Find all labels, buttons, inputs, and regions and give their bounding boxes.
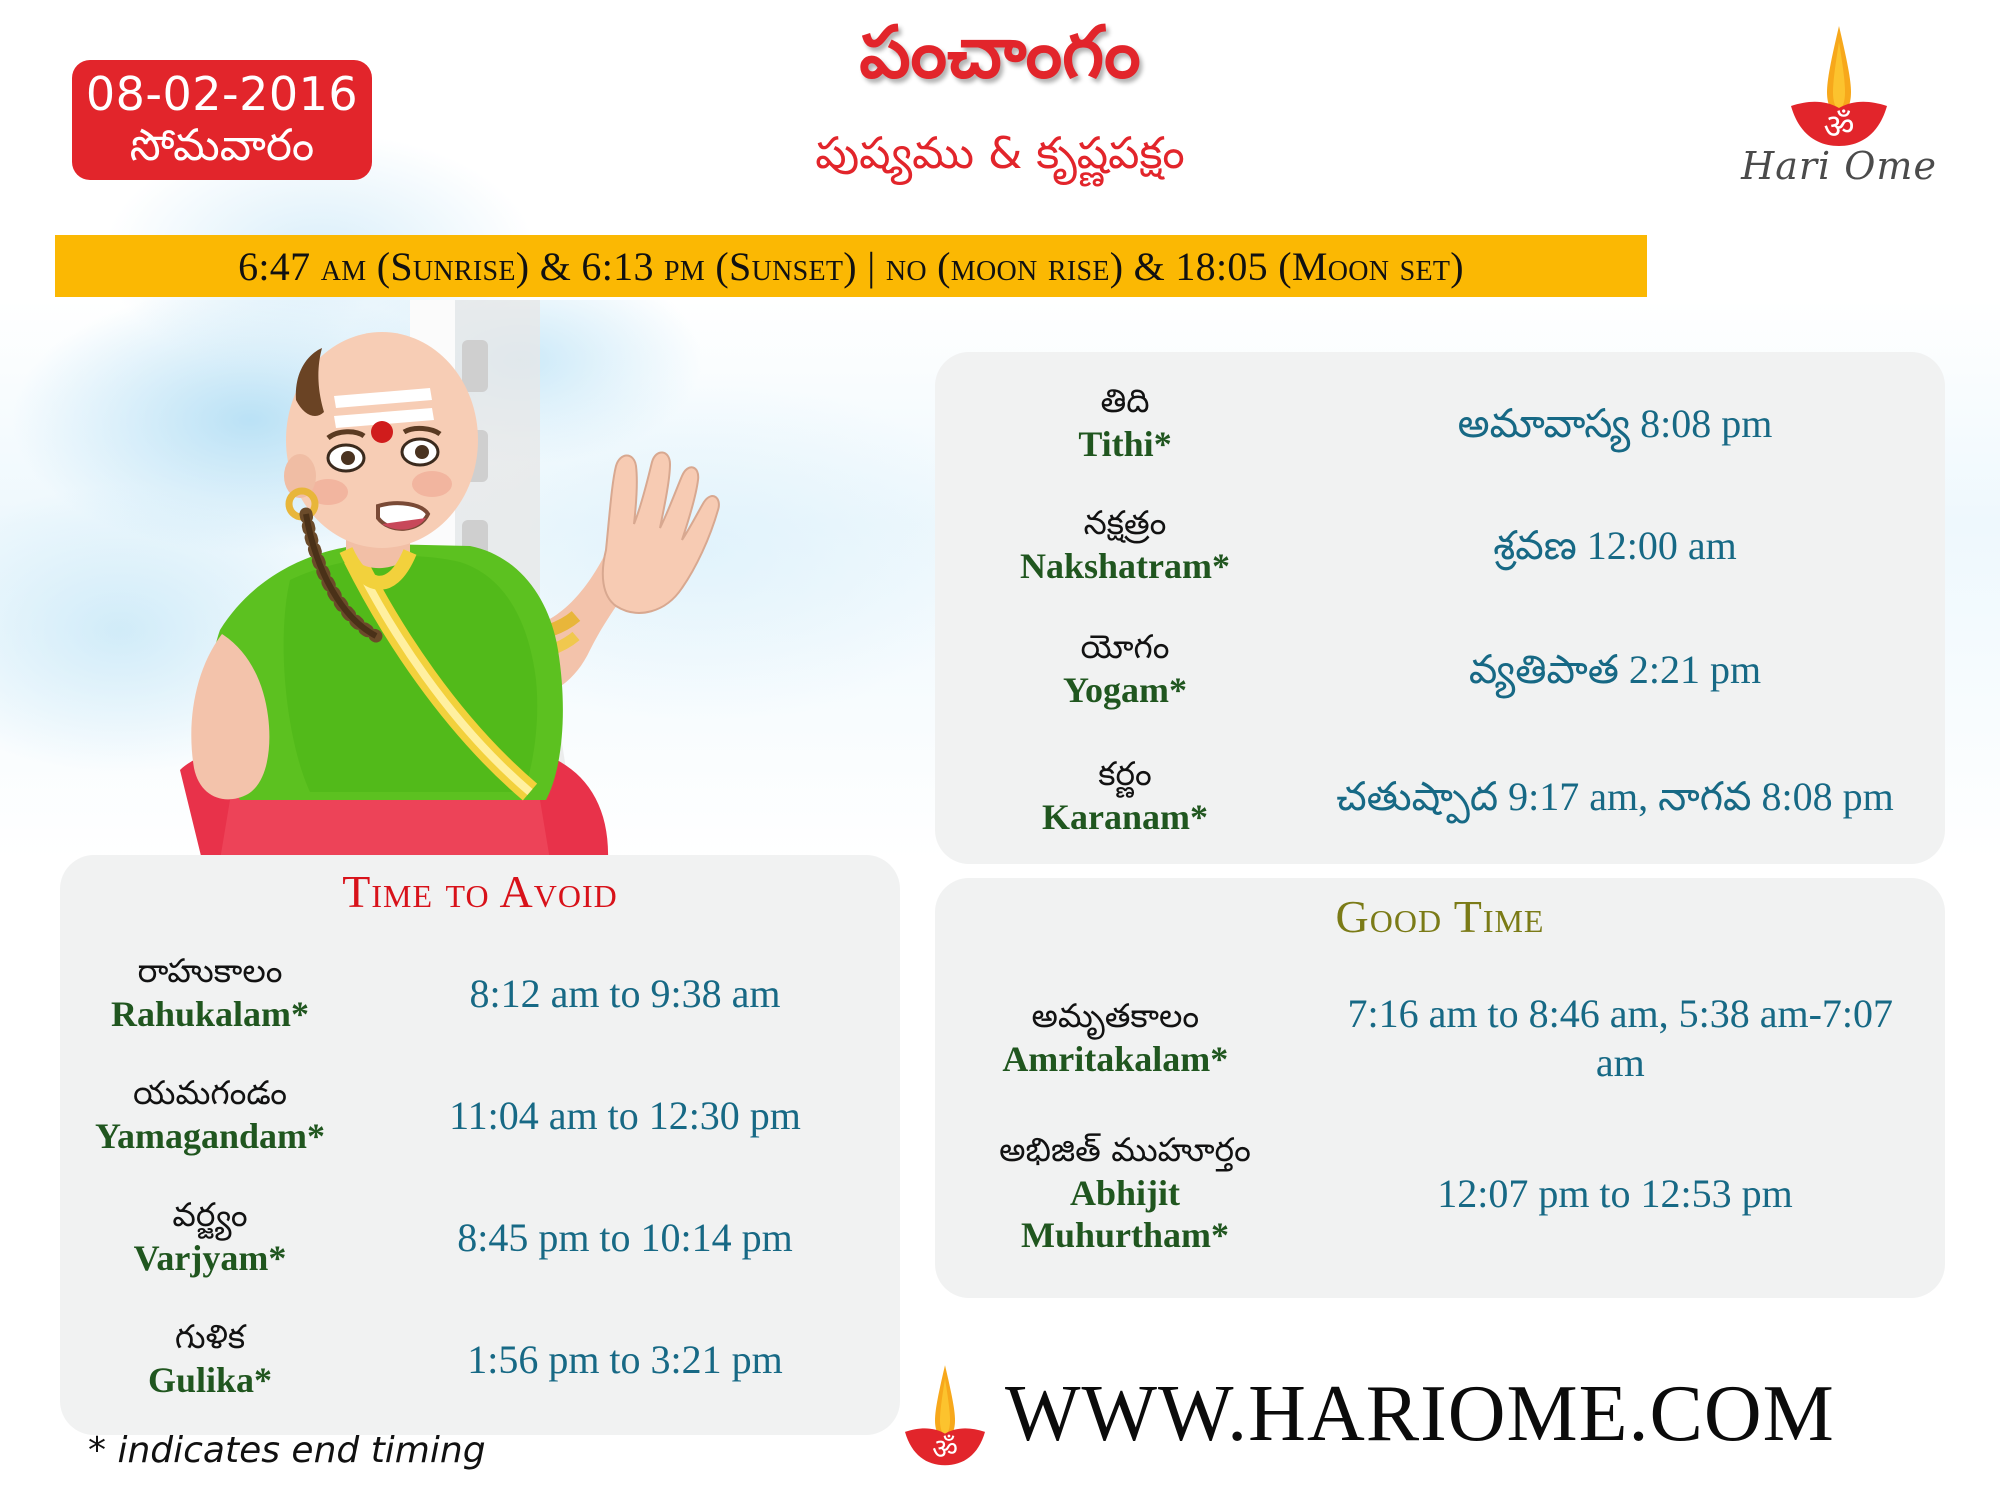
footnote: * indicates end timing bbox=[88, 1430, 486, 1471]
table-row: నక్షత్రం Nakshatram* శ్రవణ 12:00 am bbox=[935, 486, 1945, 606]
row-label-en: Abhijit Muhurtham* bbox=[975, 1172, 1275, 1257]
table-row: యోగం Yogam* వ్యతిపాత 2:21 pm bbox=[935, 610, 1945, 730]
row-label: యమగండం Yamagandam* bbox=[60, 1074, 360, 1157]
row-value: 7:16 am to 8:46 am, 5:38 am-7:07 am bbox=[1296, 990, 1945, 1088]
row-label-en: Amritakalam* bbox=[935, 1038, 1296, 1080]
row-label-en: Karanam* bbox=[935, 796, 1315, 838]
row-label-en: Tithi* bbox=[935, 423, 1315, 465]
row-label: అభిజిత్ ముహూర్తం Abhijit Muhurtham* bbox=[935, 1131, 1315, 1257]
avoid-heading: Time to Avoid bbox=[60, 865, 900, 918]
row-label-en: Nakshatram* bbox=[935, 545, 1315, 587]
row-label-te: గుళిక bbox=[60, 1318, 360, 1357]
diya-lamp-icon: ॐ bbox=[895, 1355, 995, 1473]
brand-name: Hari Ome bbox=[1741, 144, 1937, 188]
row-label-te: తిది bbox=[935, 382, 1315, 421]
row-label-te: వర్జ్యం bbox=[60, 1196, 360, 1235]
row-value: చతుష్పాద 9:17 am, నాగవ 8:08 pm bbox=[1315, 773, 1915, 822]
row-value: అమావాస్య 8:08 pm bbox=[1315, 400, 1915, 449]
table-row: కర్ణం Karanam* చతుష్పాద 9:17 am, నాగవ 8:… bbox=[935, 732, 1945, 862]
diya-lamp-icon: ॐ bbox=[1779, 22, 1899, 147]
row-value: 8:45 pm to 10:14 pm bbox=[360, 1214, 890, 1263]
row-value: 11:04 am to 12:30 pm bbox=[360, 1092, 890, 1141]
row-label: రాహుకాలం Rahukalam* bbox=[60, 952, 360, 1035]
row-label-en: Varjyam* bbox=[60, 1237, 360, 1279]
row-label-en: Yamagandam* bbox=[60, 1115, 360, 1157]
row-label-te: యమగండం bbox=[60, 1074, 360, 1113]
page-subtitle: పుష్యము & కృష్ణపక్షం bbox=[560, 128, 1440, 181]
row-label: వర్జ్యం Varjyam* bbox=[60, 1196, 360, 1279]
table-row: తిది Tithi* అమావాస్య 8:08 pm bbox=[935, 364, 1945, 484]
table-row: యమగండం Yamagandam* 11:04 am to 12:30 pm bbox=[60, 1055, 900, 1177]
row-label-te: అమృతకాలం bbox=[935, 997, 1296, 1036]
table-row: గుళిక Gulika* 1:56 pm to 3:21 pm bbox=[60, 1299, 900, 1421]
row-label-en: Rahukalam* bbox=[60, 993, 360, 1035]
row-value: 8:12 am to 9:38 am bbox=[360, 970, 890, 1019]
page-title: పంచాంగం bbox=[560, 12, 1440, 93]
table-row: రాహుకాలం Rahukalam* 8:12 am to 9:38 am bbox=[60, 933, 900, 1055]
weekday-text: సోమవారం bbox=[130, 122, 315, 170]
table-row: వర్జ్యం Varjyam* 8:45 pm to 10:14 pm bbox=[60, 1177, 900, 1299]
row-value: 1:56 pm to 3:21 pm bbox=[360, 1336, 890, 1385]
table-row: అమృతకాలం Amritakalam* 7:16 am to 8:46 am… bbox=[935, 964, 1945, 1114]
row-label: తిది Tithi* bbox=[935, 382, 1315, 465]
website-url: WWW.HARIOME.COM bbox=[1005, 1369, 1835, 1460]
avoid-rows: Time to Avoid రాహుకాలం Rahukalam* 8:12 a… bbox=[60, 855, 900, 1435]
table-row: అభిజిత్ ముహూర్తం Abhijit Muhurtham* 12:0… bbox=[935, 1114, 1945, 1274]
row-label-en: Yogam* bbox=[935, 669, 1315, 711]
sunrise-sunset-banner: 6:47 am (Sunrise) & 6:13 pm (Sunset) | n… bbox=[55, 235, 1647, 297]
row-label-te: యోగం bbox=[935, 628, 1315, 667]
good-time-heading: Good Time bbox=[935, 890, 1945, 943]
seated-pandit-illustration bbox=[110, 300, 750, 920]
row-label-te: నక్షత్రం bbox=[935, 504, 1315, 543]
row-label-te: రాహుకాలం bbox=[60, 952, 360, 991]
row-label: కర్ణం Karanam* bbox=[935, 755, 1315, 838]
banner-text: 6:47 am (Sunrise) & 6:13 pm (Sunset) | n… bbox=[238, 243, 1464, 290]
row-label: గుళిక Gulika* bbox=[60, 1318, 360, 1401]
row-value: శ్రవణ 12:00 am bbox=[1315, 522, 1915, 571]
row-label-te: అభిజిత్ ముహూర్తం bbox=[935, 1131, 1315, 1170]
row-value: 12:07 pm to 12:53 pm bbox=[1315, 1170, 1915, 1219]
row-label: అమృతకాలం Amritakalam* bbox=[935, 997, 1296, 1080]
brand-logo[interactable]: ॐ Hari Ome bbox=[1714, 22, 1964, 192]
good-rows: Good Time అమృతకాలం Amritakalam* 7:16 am … bbox=[935, 878, 1945, 1298]
row-value: వ్యతిపాత 2:21 pm bbox=[1315, 646, 1915, 695]
row-label-te: కర్ణం bbox=[935, 755, 1315, 794]
svg-text:ॐ: ॐ bbox=[1823, 107, 1854, 147]
row-label: నక్షత్రం Nakshatram* bbox=[935, 504, 1315, 587]
svg-text:ॐ: ॐ bbox=[932, 1433, 958, 1466]
tithi-rows: తిది Tithi* అమావాస్య 8:08 pm నక్షత్రం Na… bbox=[935, 352, 1945, 864]
row-label-en: Gulika* bbox=[60, 1359, 360, 1401]
row-label: యోగం Yogam* bbox=[935, 628, 1315, 711]
date-badge: 08-02-2016 సోమవారం bbox=[72, 60, 372, 180]
panchangam-poster: 08-02-2016 సోమవారం పంచాంగం పుష్యము & కృష… bbox=[0, 0, 2000, 1500]
website-footer[interactable]: ॐ WWW.HARIOME.COM bbox=[895, 1355, 1835, 1473]
date-text: 08-02-2016 bbox=[86, 70, 358, 120]
